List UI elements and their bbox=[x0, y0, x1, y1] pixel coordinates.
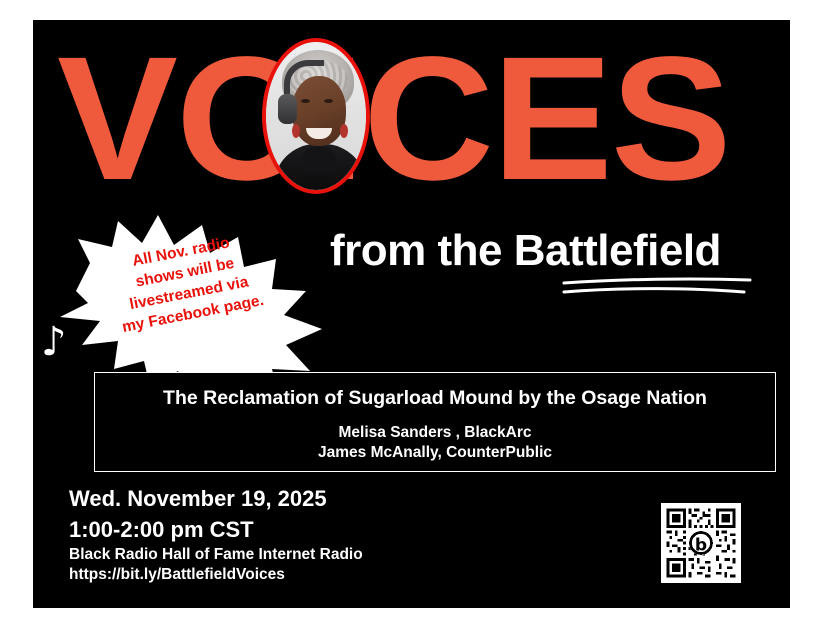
subtitle-underline-icon bbox=[562, 277, 752, 297]
speaker-2: James McAnally, CounterPublic bbox=[95, 443, 775, 463]
speaker-1: Melisa Sanders , BlackArc bbox=[95, 423, 775, 443]
session-speakers: Melisa Sanders , BlackArc James McAnally… bbox=[95, 423, 775, 463]
brand-subtitle-block: from the Battlefield bbox=[330, 227, 770, 275]
event-date: Wed. November 19, 2025 bbox=[69, 483, 363, 514]
session-title: The Reclamation of Sugarload Mound by th… bbox=[95, 386, 775, 410]
qr-logo-letter: b bbox=[695, 535, 707, 555]
brand-wordmark: VOICES bbox=[57, 34, 777, 204]
portrait-eye-right bbox=[324, 99, 333, 103]
voices-title: VOICES bbox=[57, 34, 790, 204]
event-time: 1:00-2:00 pm CST bbox=[69, 514, 363, 545]
portrait-collar bbox=[302, 146, 336, 172]
portrait-earring-right bbox=[340, 124, 348, 138]
poster-canvas: VOICES from the Battlefield ♪ bbox=[33, 20, 790, 608]
event-url[interactable]: https://bit.ly/BattlefieldVoices bbox=[69, 565, 363, 585]
event-details: Wed. November 19, 2025 1:00-2:00 pm CST … bbox=[69, 483, 363, 585]
headset-earcup-icon bbox=[278, 94, 297, 124]
brand-subtitle: from the Battlefield bbox=[330, 227, 770, 275]
qr-code[interactable]: b bbox=[661, 503, 741, 583]
announcement-starburst: All Nov. radio shows will be livestreame… bbox=[38, 203, 330, 399]
session-title-box: The Reclamation of Sugarload Mound by th… bbox=[94, 372, 776, 472]
portrait-earring-left bbox=[292, 124, 300, 138]
host-portrait bbox=[262, 38, 370, 194]
event-station: Black Radio Hall of Fame Internet Radio bbox=[69, 545, 363, 565]
